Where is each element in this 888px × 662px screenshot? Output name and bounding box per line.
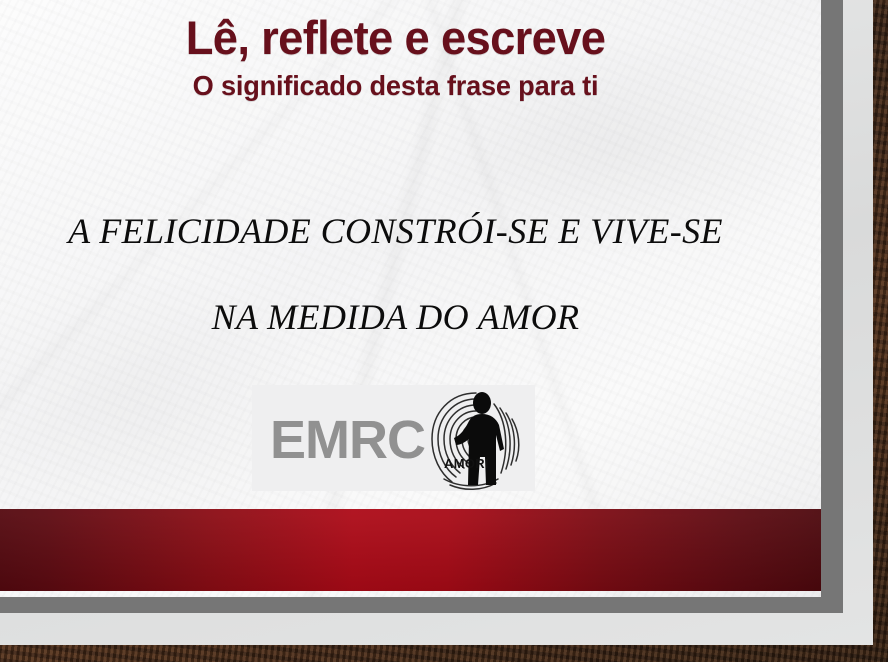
- fingerprint-silhouette-icon: [420, 387, 532, 491]
- title-block: Lê, reflete e escreve O significado dest…: [0, 14, 821, 102]
- slide-bottom-accent-band: [0, 509, 821, 591]
- quote-line: NA MEDIDA DO AMOR: [0, 299, 821, 335]
- slide-outer-frame: Lê, reflete e escreve O significado dest…: [0, 0, 873, 645]
- slide-bevel-border: Lê, reflete e escreve O significado dest…: [0, 0, 843, 613]
- page-title: Lê, reflete e escreve: [0, 14, 806, 62]
- quote-line: A FELICIDADE CONSTRÓI-SE E VIVE-SE: [0, 213, 821, 249]
- emrc-tagline: AMORI: [444, 456, 489, 471]
- page-subtitle: O significado desta frase para ti: [0, 70, 808, 102]
- emrc-logo: EMRC: [252, 385, 535, 491]
- quote-block: A FELICIDADE CONSTRÓI-SE E VIVE-SE NA ME…: [0, 213, 821, 335]
- emrc-wordmark: EMRC: [270, 413, 425, 467]
- presentation-slide: Lê, reflete e escreve O significado dest…: [0, 0, 821, 597]
